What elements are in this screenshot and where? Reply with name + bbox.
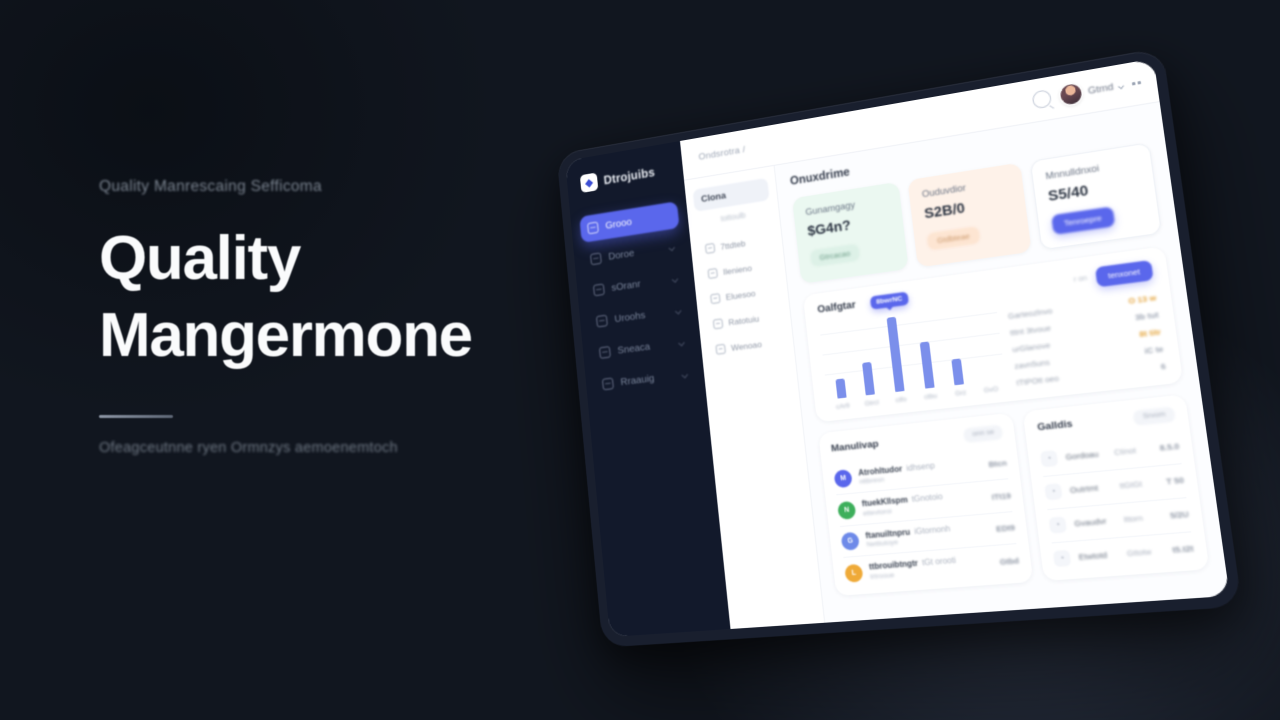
table-cell-name: Outrtmt bbox=[1069, 482, 1112, 495]
stat-card-1: OuduvdiorS2B/0Gtdbteae bbox=[908, 163, 1032, 268]
activity-card-action[interactable]: onn se bbox=[963, 424, 1004, 443]
sidebar-item-label: Doroe bbox=[608, 243, 663, 262]
table-cell-name: Gordoau bbox=[1065, 449, 1107, 463]
dot-icon: • bbox=[1045, 483, 1064, 501]
secondary-nav-title[interactable]: Clona bbox=[693, 178, 770, 212]
table-cell-value: 5/2U bbox=[1169, 510, 1189, 521]
table-cell-value: T 50 bbox=[1166, 476, 1185, 487]
table-cell-meta: Ctinot bbox=[1114, 444, 1153, 457]
stat-card-2: MnnulldnxoiS5/40Tenroepre bbox=[1029, 142, 1162, 250]
headline-line-2: Mangermone bbox=[99, 297, 559, 374]
grid-icon bbox=[587, 222, 599, 235]
avatar-green: N bbox=[837, 501, 856, 520]
bottom-card-row: Manulivap onn se MAtrohltudoridhsenpnttb… bbox=[818, 394, 1209, 596]
hero-stage: Quality Manrescaing Sefficoma Quality Ma… bbox=[0, 0, 1280, 720]
avatar-lightblue: G bbox=[841, 532, 860, 551]
status-badge: Gtdbteae bbox=[927, 226, 980, 251]
chart-tooltip: 8bwrNC bbox=[869, 292, 909, 310]
calendar-icon bbox=[593, 283, 605, 296]
hero-copy: Quality Manrescaing Sefficoma Quality Ma… bbox=[99, 178, 559, 456]
chevron-down-icon[interactable] bbox=[675, 307, 682, 314]
sidebar-item-label: Sneaca bbox=[617, 338, 672, 357]
main-panel: Onuxdrime Gunamgagy$G4n?GtrcacaoOuduvdio… bbox=[775, 102, 1230, 623]
x-axis-tick-label: ctfo bbox=[886, 395, 916, 405]
x-axis-tick-label: ctbu bbox=[915, 391, 946, 402]
secondary-nav-item-label: 7ttdteb bbox=[720, 238, 746, 251]
avatar-indigo: M bbox=[834, 469, 853, 488]
logo-glyph-icon: ◆ bbox=[580, 173, 599, 193]
chart-stat-label: zavn5uns bbox=[1014, 357, 1050, 371]
app-body: Ondsrotra / Gtmd Clona tottoulb bbox=[680, 59, 1230, 630]
x-axis-tick-label: Gtrcl bbox=[857, 398, 887, 408]
chart-stat-value: iC te bbox=[1144, 344, 1164, 356]
tablet-screen: ◆ Dtrojuibs GroooDoroesOranrUroohsSneaca… bbox=[565, 59, 1230, 638]
page-title: Quality Mangermone bbox=[99, 220, 559, 374]
inbox-icon bbox=[590, 252, 602, 265]
list-item-amount: Gtbd bbox=[999, 555, 1019, 566]
breadcrumb[interactable]: Ondsrotra / bbox=[698, 144, 746, 162]
x-axis-tick-label: cAr9 bbox=[828, 401, 858, 411]
hero-eyebrow: Quality Manrescaing Sefficoma bbox=[99, 178, 559, 196]
table-cell-value: 8.5.0 bbox=[1159, 442, 1180, 454]
chart-stat-label: tTtPOtt oeo bbox=[1016, 373, 1059, 387]
secondary-nav-item-label: Ratotuiu bbox=[728, 314, 760, 328]
chevron-down-icon[interactable] bbox=[672, 276, 679, 283]
sidebar-item-label: Grooo bbox=[605, 210, 671, 232]
secondary-nav-item-label: Wenoao bbox=[731, 339, 763, 353]
chart-stat-rows: GarteozlnvoO 13 wtttnt 3tvoue3b tuturGla… bbox=[1007, 290, 1167, 391]
dot-icon: • bbox=[1049, 517, 1068, 535]
chart-bar[interactable] bbox=[919, 341, 934, 388]
table-cell-meta: Gttotw bbox=[1126, 546, 1165, 559]
more-dots-icon[interactable] bbox=[1132, 81, 1141, 85]
table-cell-name: Gvaudvr bbox=[1074, 516, 1117, 529]
headline-line-1: Quality bbox=[99, 224, 300, 293]
details-table-card: Galldis Srvom •GordoauCtinot8.5.0•Outrtm… bbox=[1023, 394, 1209, 581]
list-item-text: Atrohltudoridhsenpnttbresn bbox=[858, 456, 982, 486]
book-icon bbox=[596, 315, 608, 328]
secondary-nav-item-label: Ilenieno bbox=[723, 263, 753, 277]
activity-card-title: Manulivap bbox=[831, 439, 880, 455]
secondary-nav-item-label: Eluesoo bbox=[725, 288, 756, 302]
x-axis-tick-label: Grz bbox=[945, 388, 976, 399]
avatar-amber: L bbox=[844, 563, 863, 582]
chart-legend-label: r on bbox=[1073, 275, 1087, 284]
note-icon bbox=[713, 318, 723, 329]
details-card-action[interactable]: Srvom bbox=[1133, 406, 1176, 425]
card-icon bbox=[710, 293, 720, 304]
tablet-frame: ◆ Dtrojuibs GroooDoroesOranrUroohsSneaca… bbox=[556, 47, 1242, 647]
sidebar-item-5[interactable]: Rraauig bbox=[594, 360, 696, 399]
table-cell-meta: ttGtGt bbox=[1119, 478, 1159, 491]
sidebar-item-label: Rraauig bbox=[620, 370, 675, 388]
username-label: Gtmd bbox=[1087, 81, 1114, 97]
bar-chart[interactable]: 8bwrNC bbox=[819, 297, 1006, 400]
file-icon bbox=[599, 346, 611, 359]
chart-stat-value: O 13 w bbox=[1128, 293, 1157, 306]
sidebar-item-label: sOranr bbox=[611, 275, 666, 294]
chevron-down-icon[interactable] bbox=[1118, 83, 1124, 89]
list-item-text: ftanuiltnpruiGtornonhNettiutoye bbox=[865, 521, 990, 550]
table-cell-meta: Ittorn bbox=[1123, 512, 1163, 525]
list-item-text: ttbrouibtngtrtGt orootitrtrooue bbox=[869, 553, 994, 581]
list-item-amount: Btcn bbox=[988, 458, 1007, 469]
chart-stat-value: 6 bbox=[1160, 361, 1166, 371]
x-axis-tick-label: GvO bbox=[975, 385, 1006, 396]
list-item-amount: ITt19 bbox=[991, 491, 1011, 502]
sidebar-nav: GroooDoroesOranrUroohsSneacaRraauig bbox=[570, 200, 705, 405]
stat-card-0: Gunamgagy$G4n?Gtrcacao bbox=[792, 182, 909, 284]
chevron-down-icon[interactable] bbox=[678, 339, 685, 346]
chart-stat-label: Garteozlnvo bbox=[1008, 306, 1053, 321]
brand-logo[interactable]: ◆ Dtrojuibs bbox=[567, 158, 684, 195]
chart-stat-label: urGlanove bbox=[1012, 340, 1051, 354]
stat-card-button[interactable]: Tenroepre bbox=[1051, 206, 1115, 235]
details-rows: •GordoauCtinot8.5.0•OutrtmtttGtGtT 50•Gv… bbox=[1039, 430, 1195, 575]
chart-stats-panel: r on tenxonet GarteozlnvoO 13 wtttnt 3tv… bbox=[1003, 260, 1166, 391]
activity-rows: MAtrohltudoridhsenpnttbresnBtcnNftuekKll… bbox=[833, 447, 1021, 588]
chart-bar[interactable] bbox=[952, 359, 965, 386]
layers-icon bbox=[602, 378, 614, 391]
hero-divider bbox=[99, 415, 173, 418]
chart-bar[interactable] bbox=[862, 362, 875, 395]
chart-stat-value: 8t titr bbox=[1139, 327, 1162, 339]
sidebar-item-label: Uroohs bbox=[614, 306, 669, 325]
table-cell-name: Etwtotd bbox=[1078, 550, 1120, 563]
avatar[interactable] bbox=[1059, 83, 1082, 106]
chart-action-button[interactable]: tenxonet bbox=[1095, 260, 1154, 288]
chevron-down-icon[interactable] bbox=[668, 244, 675, 251]
table-cell-value: t5.t2t bbox=[1172, 544, 1194, 556]
content-area: Clona tottoulb 7ttdtebIlenienoEluesooRat… bbox=[684, 102, 1230, 629]
hero-subtitle: Ofeagceutnne ryen Ormnzys aemoenemtoch bbox=[99, 440, 559, 456]
archive-icon bbox=[705, 243, 715, 254]
chart-bar[interactable] bbox=[835, 378, 846, 398]
chart-bar[interactable] bbox=[887, 317, 905, 392]
grid-small-icon bbox=[715, 344, 726, 355]
activity-list-card: Manulivap onn se MAtrohltudoridhsenpnttb… bbox=[818, 413, 1034, 596]
search-icon[interactable] bbox=[1032, 89, 1053, 109]
list-item-meta: tGt orooti bbox=[922, 556, 957, 568]
dot-icon: • bbox=[1053, 550, 1072, 567]
details-card-title: Galldis bbox=[1037, 419, 1074, 434]
secondary-nav-item-4[interactable]: Wenoao bbox=[708, 330, 786, 361]
list-item-text: ftuekKllspmtGnotoioettevtoroi bbox=[861, 488, 985, 517]
chart-stat-label: tttnt 3tvoue bbox=[1010, 323, 1052, 337]
chart-stat-value: 3b tut bbox=[1134, 310, 1159, 322]
status-badge: Gtrcacao bbox=[810, 243, 860, 267]
mail-icon bbox=[708, 268, 718, 279]
brand-name: Dtrojuibs bbox=[603, 165, 655, 187]
chevron-down-icon[interactable] bbox=[681, 371, 688, 378]
dot-icon: • bbox=[1040, 450, 1059, 468]
secondary-nav-list: 7ttdtebIlenienoEluesooRatotuiuWenoao bbox=[698, 228, 787, 361]
chart-plot-area: Oalfgtar 8bwrNC cAr9GtrclctfoctbuGrzGvO bbox=[817, 281, 1007, 412]
device-mockup-wrapper: ◆ Dtrojuibs GroooDoroesOranrUroohsSneaca… bbox=[556, 94, 1216, 634]
list-item-amount: EDt9 bbox=[996, 523, 1016, 534]
details-card-header: Galldis Srvom bbox=[1036, 406, 1175, 435]
